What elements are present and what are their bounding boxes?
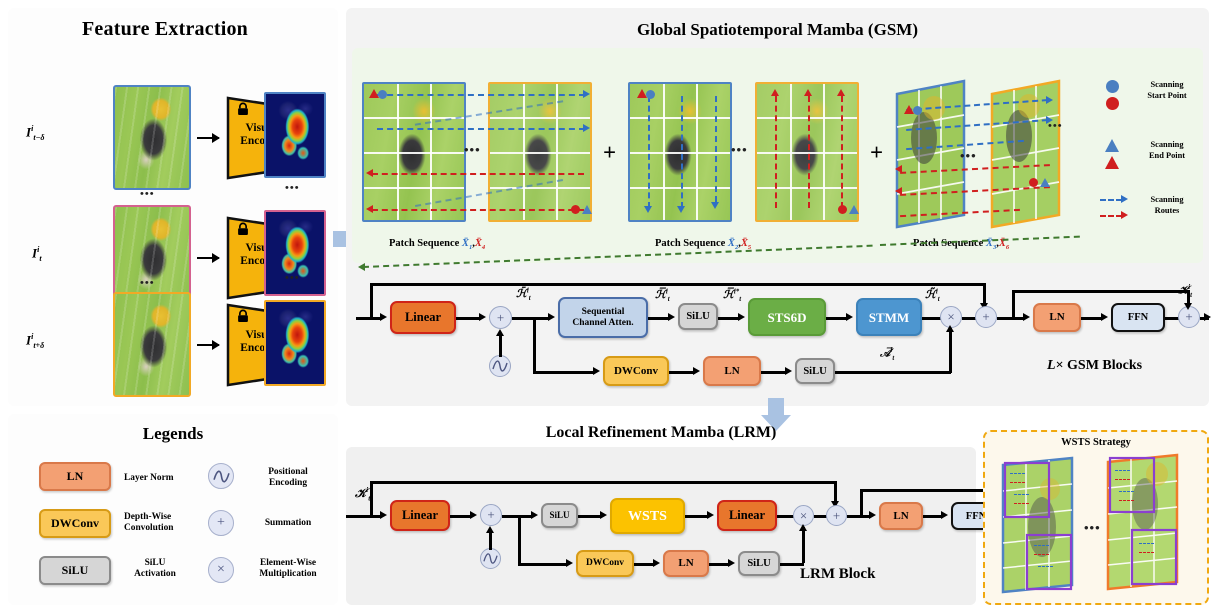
legend-route-arrow-red <box>1121 211 1128 219</box>
legend-box-ln: LN <box>39 462 111 491</box>
lrm-wire-pe <box>489 530 492 550</box>
gsm-arrow-mul-up <box>946 325 954 332</box>
arrow-input-to-encoder-1 <box>197 257 219 259</box>
lock-icon <box>236 102 250 116</box>
gsm-residual-top <box>370 283 985 286</box>
gsm-repeat-label: L× GSM Blocks <box>1047 358 1142 374</box>
lrm-residual-top <box>370 481 836 484</box>
input-label-2: Iit+δ <box>26 332 44 350</box>
input-frame-0 <box>113 85 191 190</box>
scan-end-tri-1 <box>369 89 379 98</box>
gsm-arrow-sca-to-silu <box>668 313 675 321</box>
lrm-residual-right <box>834 481 837 503</box>
scan-route-1-2 <box>372 173 584 175</box>
scan-arrowhead-3-0 <box>1046 96 1053 104</box>
lrm-ln1-block[interactable]: LN <box>663 550 709 577</box>
legend-route-dash-red <box>1100 215 1122 217</box>
legend-desc-sum: Summation <box>249 518 327 529</box>
lrm-sum-1: + <box>480 504 502 526</box>
lrm-arrow-to-silu <box>531 511 538 519</box>
legend-desc-silu-l1: SiLU <box>145 558 166 568</box>
gsm-residual2-top <box>1012 290 1189 293</box>
legend-desc-dwconv-l2: Convolution <box>124 523 174 533</box>
legend-scan-start-l1: Scanning <box>1150 80 1183 89</box>
legend-route-dash-blue <box>1100 199 1122 201</box>
scan-start-dot-2 <box>646 90 655 99</box>
scan-route-1-1 <box>377 128 585 130</box>
scan-start-dot-3 <box>913 106 922 115</box>
gsm-output-label: 𝒦it <box>1178 284 1192 299</box>
gsm-wire-silu2-to-mul <box>835 371 951 374</box>
legend-scan-end-text: Scanning End Point <box>1129 140 1205 161</box>
arrow-input-to-encoder-2 <box>197 344 219 346</box>
patch-seq-prefix-1: Patch Sequence <box>655 238 725 249</box>
patch-sequence-label-1: Patch Sequence X̄2,X̄5 <box>655 238 751 251</box>
gsm-wire-linear-to-sum <box>456 317 481 320</box>
lrm-multiply: × <box>793 505 814 526</box>
legend-route-arrow-blue <box>1121 195 1128 203</box>
scan-ellipsis-1: ••• <box>464 142 481 158</box>
lock-icon <box>236 309 250 323</box>
gsm-sum-1: + <box>489 306 512 329</box>
lrm-sum-2: + <box>826 505 847 526</box>
scan-arrowhead-1-2 <box>366 169 373 177</box>
gsm-sca-line1: Sequential <box>582 307 625 318</box>
lrm-branch-vertical <box>518 515 521 565</box>
legend-desc-mul-l2: Multiplication <box>259 569 316 579</box>
gsm-residual2-left <box>1012 290 1015 317</box>
scan-route-2-5 <box>841 96 843 208</box>
legend-scan-end-tri-blue <box>1105 139 1119 152</box>
legend-scan-start-circle-blue <box>1106 80 1119 93</box>
gsm-positional-encoding <box>489 355 511 377</box>
wsts-mini-arrow-0 <box>1010 473 1025 474</box>
wsts-mini-arrow-3 <box>1014 503 1029 504</box>
input-label-0: Iit−δ <box>26 124 45 142</box>
gsm-wire-sum2-to-ln <box>997 317 1025 320</box>
lrm-wsts-block[interactable]: WSTS <box>610 498 685 534</box>
lrm-ln2-block[interactable]: LN <box>879 502 923 530</box>
sine-wave-icon <box>208 463 234 489</box>
scan-arrowhead-1-3 <box>366 205 373 213</box>
wsts-mini-arrow-8 <box>1115 479 1130 480</box>
scan-end-tri-3 <box>904 105 914 114</box>
scan-arrowhead-2-5 <box>837 89 845 96</box>
scan-ellipsis-2: ••• <box>731 142 748 158</box>
gsm-arrow-sum2-to-ln <box>1023 313 1030 321</box>
gsm-arrow-silu-to-sts6d <box>738 313 745 321</box>
gsm-residual-left-vertical <box>370 283 373 318</box>
gsm-tensor-after-pos: ℋ̄it <box>516 287 531 302</box>
gsm-ffn-block[interactable]: FFN <box>1111 303 1165 332</box>
gsm-sum-2: + <box>975 306 997 328</box>
gsm-arrow-dwconv-to-ln <box>693 367 700 375</box>
legend-desc-pe-l2: Encoding <box>269 478 307 488</box>
scan-arrowhead-3-2 <box>895 165 902 173</box>
lrm-dwconv-block[interactable]: DWConv <box>576 550 634 577</box>
lrm-wire-dwconv-to-ln <box>634 563 655 566</box>
gsm-arrow-ln-to-silu2 <box>785 367 792 375</box>
legend-desc-silu-l2: Activation <box>134 569 176 579</box>
lrm-arrow-silu-to-wsts <box>600 511 607 519</box>
gsm-ln-lower-block[interactable]: LN <box>703 356 761 386</box>
heatmap-0 <box>264 92 326 178</box>
gsm-plus-1: + <box>603 140 616 166</box>
gsm-wire-dwconv-to-ln <box>669 371 695 374</box>
legend-box-silu: SiLU <box>39 556 111 585</box>
gsm-tensor-gate: 𝒜̅it <box>880 347 894 362</box>
lrm-silu1-block[interactable]: SiLU <box>541 503 578 528</box>
gsm-wire-ln-to-ffn <box>1081 317 1103 320</box>
lrm-wire-silu-to-wsts <box>578 515 602 518</box>
lrm-positional-encoding <box>480 548 501 569</box>
scan-end-dot-2 <box>838 205 847 214</box>
gsm-wire-sca-to-silu <box>648 317 670 320</box>
gsm-sca-line2: Channel Atten. <box>572 318 633 329</box>
scan-frame-1a <box>362 82 466 222</box>
gsm-ln-block[interactable]: LN <box>1033 303 1081 332</box>
scan-start-tri-1 <box>582 205 592 214</box>
gsm-residual2-arrow <box>1184 303 1192 310</box>
gsm-tensor-after-silu: ℋ̅i*t <box>723 288 741 303</box>
patch-seq-prefix-0: Patch Sequence <box>389 238 459 249</box>
gsm-arrow-to-sca <box>548 313 555 321</box>
lrm-silu2-block[interactable]: SiLU <box>738 551 780 576</box>
scan-start-dot-1 <box>378 90 387 99</box>
gsm-title: Global Spatiotemporal Mamba (GSM) <box>346 20 1209 40</box>
lrm-arrow-mul-up <box>799 524 807 531</box>
legend-scan-start-text: Scanning Start Point <box>1129 80 1205 101</box>
wsts-strategy-title: WSTS Strategy <box>983 437 1209 448</box>
legend-scan-start-l2: Start Point <box>1147 91 1186 100</box>
gsm-wire-mul-vertical <box>949 328 952 373</box>
wsts-mini-arrow-6 <box>1038 566 1053 567</box>
input-ellipsis-0: ••• <box>140 188 155 200</box>
heatmap-ellipsis-0: ••• <box>285 182 300 194</box>
arrow-input-to-encoder-0 <box>197 137 219 139</box>
gsm-tensor-after-stmm: ℋ̃it <box>925 288 940 303</box>
gsm-wire-sum-to-branch <box>512 317 534 320</box>
scan-arrowhead-2-2 <box>711 202 719 209</box>
lrm-arrow-ln1-to-silu2 <box>728 559 735 567</box>
scan-route-2-3 <box>775 96 777 208</box>
wsts-mini-arrow-10 <box>1119 500 1134 501</box>
legends-title: Legends <box>8 424 338 444</box>
lrm-residual2-left <box>860 489 863 515</box>
input-label-1: Iit <box>32 245 42 263</box>
legend-route-text: Scanning Routes <box>1129 195 1205 216</box>
gsm-linear-block[interactable]: Linear <box>390 301 456 334</box>
lrm-input-label: 𝒦it <box>355 485 370 502</box>
lrm-linear2-block[interactable]: Linear <box>717 500 777 531</box>
lrm-wire-in <box>346 515 382 518</box>
lrm-arrow-pe <box>486 526 494 533</box>
gsm-sts6d-block[interactable]: STS6D <box>748 298 826 336</box>
lrm-wire-wsts-to-linear2 <box>685 515 709 518</box>
scan-start-tri-2 <box>849 205 859 214</box>
wsts-mini-arrow-11 <box>1139 543 1154 544</box>
scan-arrowhead-2-4 <box>804 89 812 96</box>
legend-scan-end-l2: End Point <box>1149 151 1185 160</box>
lock-icon <box>236 222 250 236</box>
input-frame-2 <box>113 292 191 397</box>
scan-arrowhead-2-0 <box>644 206 652 213</box>
lrm-arrow-in <box>380 511 387 519</box>
scan-route-1-3 <box>372 209 584 211</box>
gsm-wire-pe <box>499 333 502 357</box>
scan-end-tri-2 <box>637 89 647 98</box>
scan-arrowhead-2-3 <box>771 89 779 96</box>
legend-desc-pe-l1: Positional <box>268 467 308 477</box>
gsm-plus-2: + <box>870 140 883 166</box>
multiply-circle-icon: × <box>208 557 234 583</box>
scan-start-tri-3 <box>1040 178 1050 187</box>
lrm-title: Local Refinement Mamba (LRM) <box>346 424 976 442</box>
heatmap-ellipsis-1: ••• <box>285 272 300 284</box>
legend-desc-dwconv-l1: Depth-Wise <box>124 512 171 522</box>
patch-sequence-label-0: Patch Sequence X̄1,X̄4 <box>389 238 485 251</box>
scan-frame-2b <box>755 82 859 222</box>
gsm-wire-sts6d-to-stmm <box>826 317 848 320</box>
lrm-wire-sum2-to-ln2 <box>847 515 871 518</box>
scan-end-dot-3 <box>1029 178 1038 187</box>
scan-route-2-1 <box>681 96 683 208</box>
wsts-ellipsis: ••• <box>1084 520 1101 536</box>
gsm-wire-silu-to-sts6d <box>718 317 740 320</box>
gsm-arrow-out <box>1204 313 1211 321</box>
lrm-residual-left <box>370 481 373 515</box>
lrm-wire-mul-vertical <box>802 527 805 563</box>
lrm-linear1-block[interactable]: Linear <box>390 500 450 531</box>
gsm-arrow-ln-to-ffn <box>1101 313 1108 321</box>
lrm-arrow-ln2-to-ffn <box>941 511 948 519</box>
scan-ellipsis-3: ••• <box>960 148 977 164</box>
lrm-arrow-sum2-to-ln2 <box>869 511 876 519</box>
scan-arrowhead-3-3 <box>895 187 902 195</box>
legend-route-l2: Routes <box>1155 206 1180 215</box>
legend-desc-mul-l1: Element-Wise <box>260 558 316 568</box>
lrm-wire-ln2-to-ffn <box>923 515 943 518</box>
lrm-block-label: LRM Block <box>800 566 875 583</box>
wsts-mini-arrow-5 <box>1034 554 1049 555</box>
scan-route-1-0 <box>377 94 585 96</box>
green-dashed-arrowhead <box>358 263 365 271</box>
legend-route-l1: Scanning <box>1150 195 1183 204</box>
gsm-stmm-block[interactable]: STMM <box>856 298 922 336</box>
gsm-wire-ln-to-silu2 <box>761 371 787 374</box>
gsm-dwconv-block[interactable]: DWConv <box>603 356 669 386</box>
legend-desc-silu: SiLU Activation <box>124 558 186 580</box>
wsts-mini-arrow-4 <box>1034 545 1049 546</box>
input-ellipsis-1: ••• <box>140 277 155 289</box>
legend-scan-end-l1: Scanning <box>1150 140 1183 149</box>
scan-arrowhead-2-1 <box>677 206 685 213</box>
wsts-mini-arrow-2 <box>1014 494 1029 495</box>
scan-arrowhead-1-1 <box>583 124 590 132</box>
legend-desc-pe: Positional Encoding <box>249 467 327 489</box>
gsm-arrow-pe <box>496 329 504 336</box>
legend-desc-mul: Element-Wise Multiplication <box>244 558 332 580</box>
wsts-mini-arrow-12 <box>1139 552 1154 553</box>
lrm-arrow-linear-to-sum <box>470 511 477 519</box>
gsm-tensor-after-sca: ℋ̅it <box>655 288 670 303</box>
scan-route-2-2 <box>715 96 717 202</box>
lrm-arrow-dwconv-to-ln <box>653 559 660 567</box>
gsm-arrow-sts6d-to-stmm <box>846 313 853 321</box>
lrm-arrow-wsts-to-linear2 <box>707 511 714 519</box>
plus-circle-icon: + <box>208 510 234 536</box>
wsts-mini-arrow-1 <box>1010 482 1025 483</box>
gsm-sequential-channel-attention-block[interactable]: Sequential Channel Atten. <box>558 297 648 338</box>
lrm-wire-branch-to-dwconv <box>518 563 568 566</box>
legend-desc-ln: Layer Norm <box>124 473 174 484</box>
scan-route-2-0 <box>648 96 650 208</box>
gsm-wire-stmm-to-mul <box>922 317 942 320</box>
scan-arrowhead-1-0 <box>583 90 590 98</box>
gsm-arrow-in <box>380 313 387 321</box>
scan-end-dot-1 <box>571 205 580 214</box>
gsm-wire-branch-to-dwconv <box>533 371 595 374</box>
wsts-frame-left <box>1000 455 1078 600</box>
legend-desc-dwconv: Depth-Wise Convolution <box>124 512 174 534</box>
wsts-mini-arrow-9 <box>1119 491 1134 492</box>
heatmap-2 <box>264 300 326 386</box>
gsm-silu2-block[interactable]: SiLU <box>795 358 835 384</box>
scan-ellipsis-3b: ••• <box>1048 120 1063 132</box>
gsm-silu-block[interactable]: SiLU <box>678 303 718 330</box>
scan-route-2-4 <box>808 96 810 208</box>
lrm-wire-ln1-to-silu2 <box>709 563 730 566</box>
gsm-wire-in <box>356 317 382 320</box>
wsts-frame-right <box>1105 452 1183 597</box>
lrm-arrow-to-dwconv <box>566 559 573 567</box>
gsm-arrow-linear-to-sum <box>479 313 486 321</box>
legend-box-dwconv: DWConv <box>39 509 111 538</box>
feature-extraction-title: Feature Extraction <box>0 18 330 41</box>
gsm-arrow-to-dwconv <box>593 367 600 375</box>
lrm-wire-linear-to-sum <box>450 515 472 518</box>
gsm-branch-vertical <box>533 317 536 373</box>
legend-scan-start-circle-red <box>1106 97 1119 110</box>
legend-scan-end-tri-red <box>1105 156 1119 169</box>
wsts-mini-arrow-7 <box>1115 470 1130 471</box>
